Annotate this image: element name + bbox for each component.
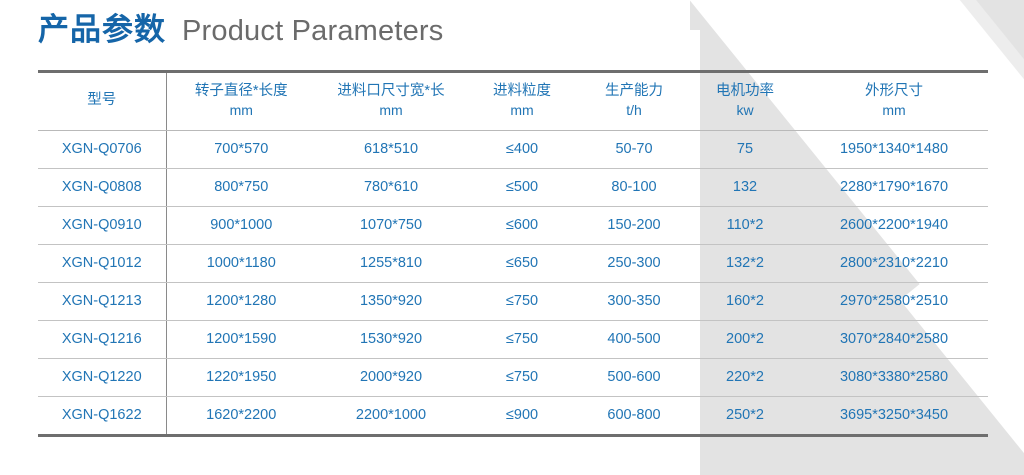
- cell-feed-opening: 2000*920: [316, 358, 466, 396]
- table-row: XGN-Q12131200*12801350*920≤750300-350160…: [38, 282, 988, 320]
- column-header-rotor-unit: mm: [169, 101, 315, 119]
- cell-dimensions: 2800*2310*2210: [800, 244, 988, 282]
- cell-dimensions: 2970*2580*2510: [800, 282, 988, 320]
- column-header-model: 型号: [38, 72, 166, 131]
- cell-model: XGN-Q1220: [38, 358, 166, 396]
- column-header-rotor-label: 转子直径*长度: [195, 83, 288, 99]
- cell-feed-size: ≤750: [466, 320, 578, 358]
- cell-power: 132: [690, 168, 800, 206]
- column-header-power: 电机功率 kw: [690, 72, 800, 131]
- spec-table: 型号 转子直径*长度 mm 进料口尺寸宽*长 mm 进料粒度 mm: [38, 70, 988, 437]
- cell-feed-size: ≤750: [466, 358, 578, 396]
- cell-power: 250*2: [690, 396, 800, 435]
- column-header-feed-opening-unit: mm: [318, 101, 464, 119]
- cell-model: XGN-Q1622: [38, 396, 166, 435]
- cell-power: 220*2: [690, 358, 800, 396]
- cell-capacity: 250-300: [578, 244, 690, 282]
- cell-rotor: 1000*1180: [166, 244, 316, 282]
- background-grey-top-edge: [690, 0, 730, 30]
- cell-capacity: 600-800: [578, 396, 690, 435]
- column-header-capacity: 生产能力 t/h: [578, 72, 690, 131]
- cell-power: 75: [690, 130, 800, 168]
- spec-table-head: 型号 转子直径*长度 mm 进料口尺寸宽*长 mm 进料粒度 mm: [38, 72, 988, 131]
- column-header-feed-size-unit: mm: [468, 101, 576, 119]
- cell-feed-size: ≤600: [466, 206, 578, 244]
- cell-feed-size: ≤900: [466, 396, 578, 435]
- spec-table-body: XGN-Q0706700*570618*510≤40050-70751950*1…: [38, 130, 988, 435]
- cell-feed-opening: 780*610: [316, 168, 466, 206]
- cell-power: 110*2: [690, 206, 800, 244]
- cell-feed-opening: 2200*1000: [316, 396, 466, 435]
- column-header-feed-opening: 进料口尺寸宽*长 mm: [316, 72, 466, 131]
- cell-feed-opening: 1070*750: [316, 206, 466, 244]
- cell-feed-size: ≤400: [466, 130, 578, 168]
- cell-rotor: 800*750: [166, 168, 316, 206]
- column-header-power-label: 电机功率: [716, 83, 774, 99]
- cell-capacity: 150-200: [578, 206, 690, 244]
- cell-model: XGN-Q1012: [38, 244, 166, 282]
- cell-power: 132*2: [690, 244, 800, 282]
- column-header-capacity-label: 生产能力: [605, 83, 663, 99]
- column-header-dimensions: 外形尺寸 mm: [800, 72, 988, 131]
- table-row: XGN-Q16221620*22002200*1000≤900600-80025…: [38, 396, 988, 435]
- cell-power: 160*2: [690, 282, 800, 320]
- table-row: XGN-Q12161200*15901530*920≤750400-500200…: [38, 320, 988, 358]
- cell-rotor: 1220*1950: [166, 358, 316, 396]
- cell-model: XGN-Q0706: [38, 130, 166, 168]
- column-header-feed-opening-label: 进料口尺寸宽*长: [337, 83, 444, 99]
- cell-capacity: 50-70: [578, 130, 690, 168]
- cell-feed-opening: 618*510: [316, 130, 466, 168]
- cell-rotor: 700*570: [166, 130, 316, 168]
- column-header-feed-size-label: 进料粒度: [493, 83, 551, 99]
- page-title-chinese: 产品参数: [38, 14, 166, 45]
- cell-dimensions: 3080*3380*2580: [800, 358, 988, 396]
- cell-model: XGN-Q0910: [38, 206, 166, 244]
- cell-dimensions: 2280*1790*1670: [800, 168, 988, 206]
- cell-dimensions: 3695*3250*3450: [800, 396, 988, 435]
- column-header-dimensions-label: 外形尺寸: [865, 83, 923, 99]
- spec-table-container: 型号 转子直径*长度 mm 进料口尺寸宽*长 mm 进料粒度 mm: [38, 70, 988, 437]
- table-row: XGN-Q12201220*19502000*920≤750500-600220…: [38, 358, 988, 396]
- cell-dimensions: 2600*2200*1940: [800, 206, 988, 244]
- cell-rotor: 900*1000: [166, 206, 316, 244]
- column-header-model-label: 型号: [87, 92, 116, 108]
- column-header-rotor: 转子直径*长度 mm: [166, 72, 316, 131]
- cell-capacity: 80-100: [578, 168, 690, 206]
- column-header-dimensions-unit: mm: [802, 101, 986, 119]
- cell-power: 200*2: [690, 320, 800, 358]
- cell-capacity: 400-500: [578, 320, 690, 358]
- cell-feed-size: ≤750: [466, 282, 578, 320]
- cell-feed-size: ≤500: [466, 168, 578, 206]
- cell-capacity: 300-350: [578, 282, 690, 320]
- table-row: XGN-Q0808800*750780*610≤50080-1001322280…: [38, 168, 988, 206]
- cell-rotor: 1200*1590: [166, 320, 316, 358]
- page-title: 产品参数 Product Parameters: [38, 14, 444, 46]
- cell-model: XGN-Q1216: [38, 320, 166, 358]
- cell-dimensions: 1950*1340*1480: [800, 130, 988, 168]
- table-row: XGN-Q0706700*570618*510≤40050-70751950*1…: [38, 130, 988, 168]
- cell-rotor: 1200*1280: [166, 282, 316, 320]
- table-header-row: 型号 转子直径*长度 mm 进料口尺寸宽*长 mm 进料粒度 mm: [38, 72, 988, 131]
- cell-capacity: 500-600: [578, 358, 690, 396]
- cell-rotor: 1620*2200: [166, 396, 316, 435]
- page-title-english: Product Parameters: [182, 17, 444, 46]
- cell-model: XGN-Q0808: [38, 168, 166, 206]
- column-header-feed-size: 进料粒度 mm: [466, 72, 578, 131]
- cell-feed-opening: 1530*920: [316, 320, 466, 358]
- table-row: XGN-Q10121000*11801255*810≤650250-300132…: [38, 244, 988, 282]
- product-parameters-page: 产品参数 Product Parameters 型号 转子直径*长度 mm: [0, 0, 1024, 475]
- table-row: XGN-Q0910900*10001070*750≤600150-200110*…: [38, 206, 988, 244]
- column-header-power-unit: kw: [692, 101, 798, 119]
- column-header-capacity-unit: t/h: [580, 101, 688, 119]
- cell-feed-opening: 1350*920: [316, 282, 466, 320]
- cell-feed-opening: 1255*810: [316, 244, 466, 282]
- cell-feed-size: ≤650: [466, 244, 578, 282]
- cell-dimensions: 3070*2840*2580: [800, 320, 988, 358]
- cell-model: XGN-Q1213: [38, 282, 166, 320]
